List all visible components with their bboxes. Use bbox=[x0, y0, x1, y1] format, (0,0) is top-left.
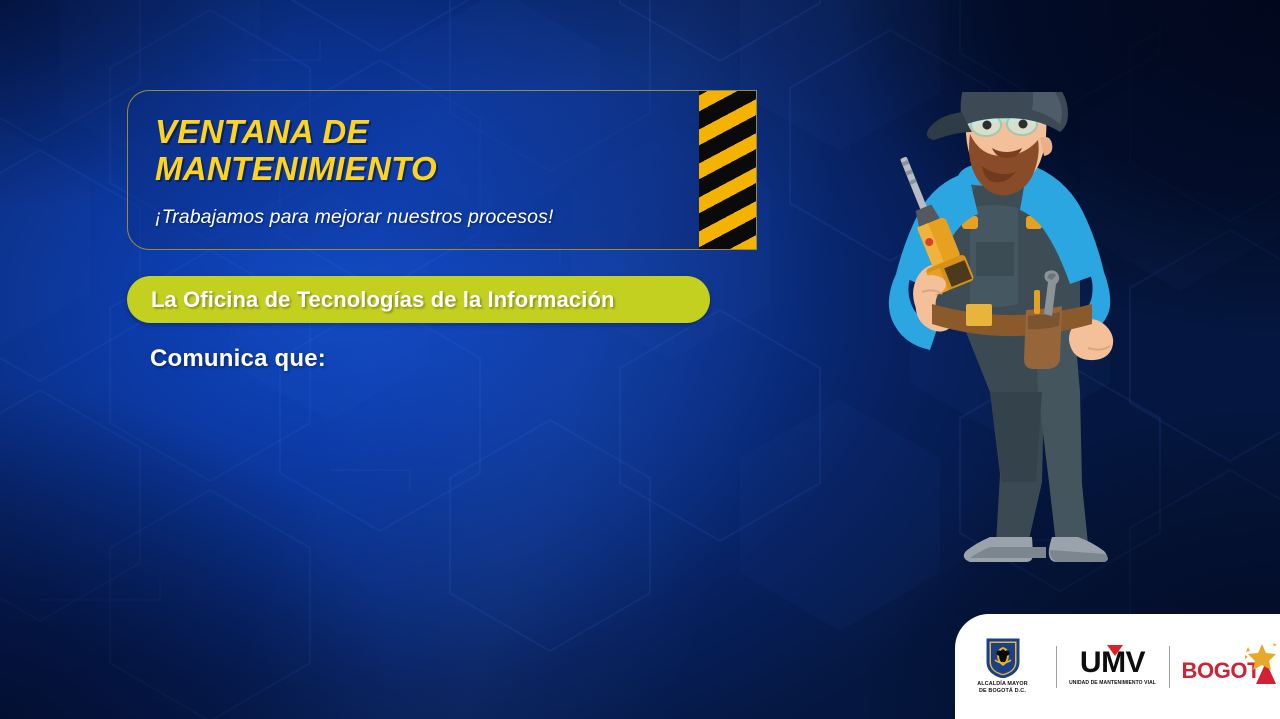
umv-tagline: UNIDAD DE MANTENIMIENTO VIAL bbox=[1069, 680, 1156, 686]
hazard-stripes-icon bbox=[699, 90, 757, 250]
banner-title: VENTANA DE MANTENIMIENTO bbox=[155, 113, 667, 187]
alcaldia-mayor-bogota-logo: ALCALDÍA MAYORDE BOGOTÁ D.C. bbox=[960, 638, 1046, 694]
institutional-logo-card: ALCALDÍA MAYORDE BOGOTÁ D.C. UMV UNIDAD … bbox=[955, 614, 1280, 719]
umv-letters-mark: UMV bbox=[1080, 648, 1145, 678]
logo-divider-2 bbox=[1169, 646, 1170, 688]
announcement-label: Comunica que: bbox=[150, 345, 326, 373]
office-name-pill: La Oficina de Tecnologías de la Informac… bbox=[127, 276, 710, 323]
office-name-label: La Oficina de Tecnologías de la Informac… bbox=[151, 287, 615, 313]
umv-logo: UMV UNIDAD DE MANTENIMIENTO VIAL bbox=[1067, 648, 1159, 686]
umv-triangle-icon bbox=[1107, 645, 1123, 656]
bogota-star-icon bbox=[1242, 642, 1278, 675]
banner-text-group: VENTANA DE MANTENIMIENTO ¡Trabajamos par… bbox=[155, 113, 667, 229]
alcaldia-logo-text: ALCALDÍA MAYORDE BOGOTÁ D.C. bbox=[977, 681, 1028, 694]
bogota-coat-of-arms-icon bbox=[986, 638, 1020, 678]
logo-row: ALCALDÍA MAYORDE BOGOTÁ D.C. UMV UNIDAD … bbox=[960, 638, 1276, 694]
banner-subtitle: ¡Trabajamos para mejorar nuestros proces… bbox=[155, 205, 667, 229]
worker-with-drill-illustration bbox=[830, 92, 1170, 582]
logo-divider-1 bbox=[1056, 646, 1057, 688]
title-banner: VENTANA DE MANTENIMIENTO ¡Trabajamos par… bbox=[127, 90, 757, 250]
slide-canvas: VENTANA DE MANTENIMIENTO ¡Trabajamos par… bbox=[0, 0, 1280, 719]
bogota-logo: BOGOT bbox=[1180, 644, 1276, 690]
